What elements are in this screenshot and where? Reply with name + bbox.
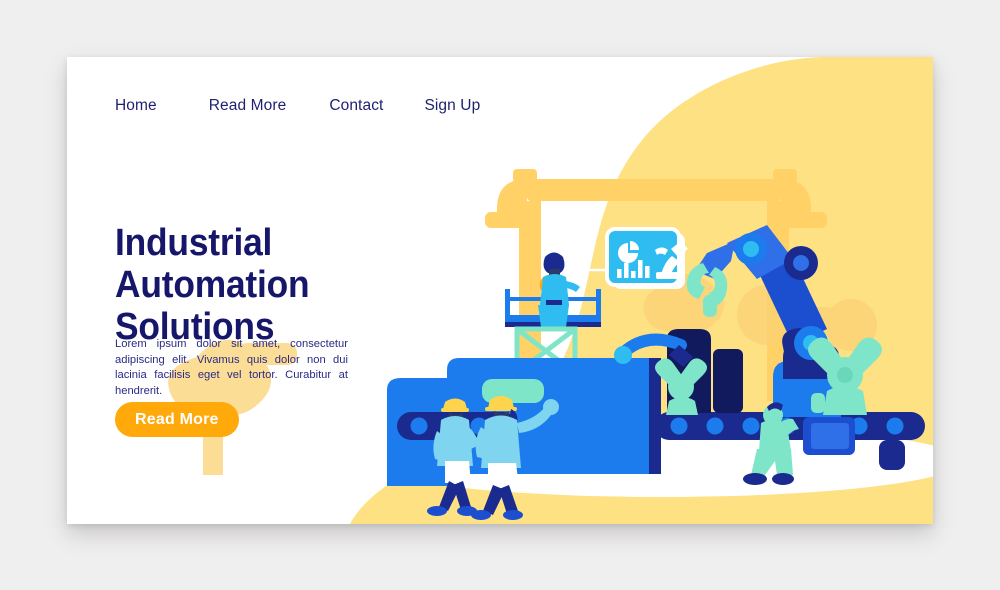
page-root: Home Read More Contact Sign Up Industria… (0, 0, 1000, 590)
page-title: Industrial Automation Solutions (115, 222, 450, 348)
hero-paragraph: Lorem ipsum dolor sit amet, consectetur … (115, 337, 348, 399)
landing-page-card: Home Read More Contact Sign Up Industria… (67, 57, 933, 524)
hero-content: Home Read More Contact Sign Up Industria… (67, 57, 487, 524)
nav-item-contact[interactable]: Contact (329, 97, 383, 115)
page-title-line-1: Industrial (115, 222, 272, 264)
control-dashboard-monitor (607, 229, 688, 289)
read-more-button[interactable]: Read More (115, 402, 239, 437)
nav-item-read-more[interactable]: Read More (209, 97, 287, 115)
nav-item-home[interactable]: Home (115, 97, 157, 115)
main-navigation: Home Read More Contact Sign Up (115, 97, 480, 115)
nav-item-sign-up[interactable]: Sign Up (424, 97, 480, 115)
page-title-line-2: Automation Solutions (115, 264, 450, 348)
